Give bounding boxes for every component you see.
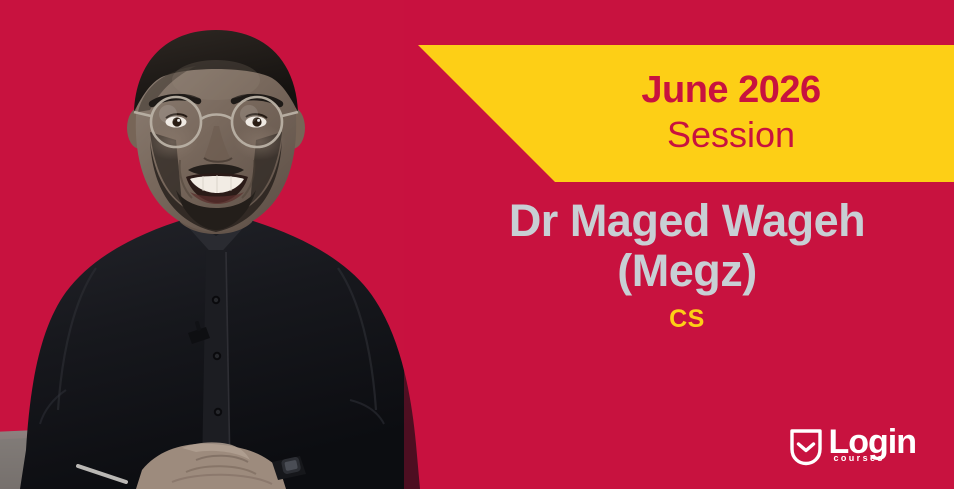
session-banner-text: June 2026 Session	[418, 45, 954, 182]
course-promo-banner: June 2026 Session Dr Maged Wageh (Megz) …	[0, 0, 954, 489]
session-month: June 2026	[641, 71, 820, 111]
instructor-name: Dr Maged Wageh (Megz)	[420, 196, 954, 297]
session-label: Session	[667, 113, 795, 156]
login-courses-logo[interactable]: Login courses	[789, 425, 916, 467]
instructor-block: Dr Maged Wageh (Megz) CS	[420, 196, 954, 334]
shield-chevron-icon	[789, 425, 828, 467]
logo-tagline: courses	[833, 454, 884, 463]
instructor-subject: CS	[420, 305, 954, 334]
instructor-photo	[0, 0, 430, 489]
logo-text-column: Login courses	[828, 425, 916, 459]
